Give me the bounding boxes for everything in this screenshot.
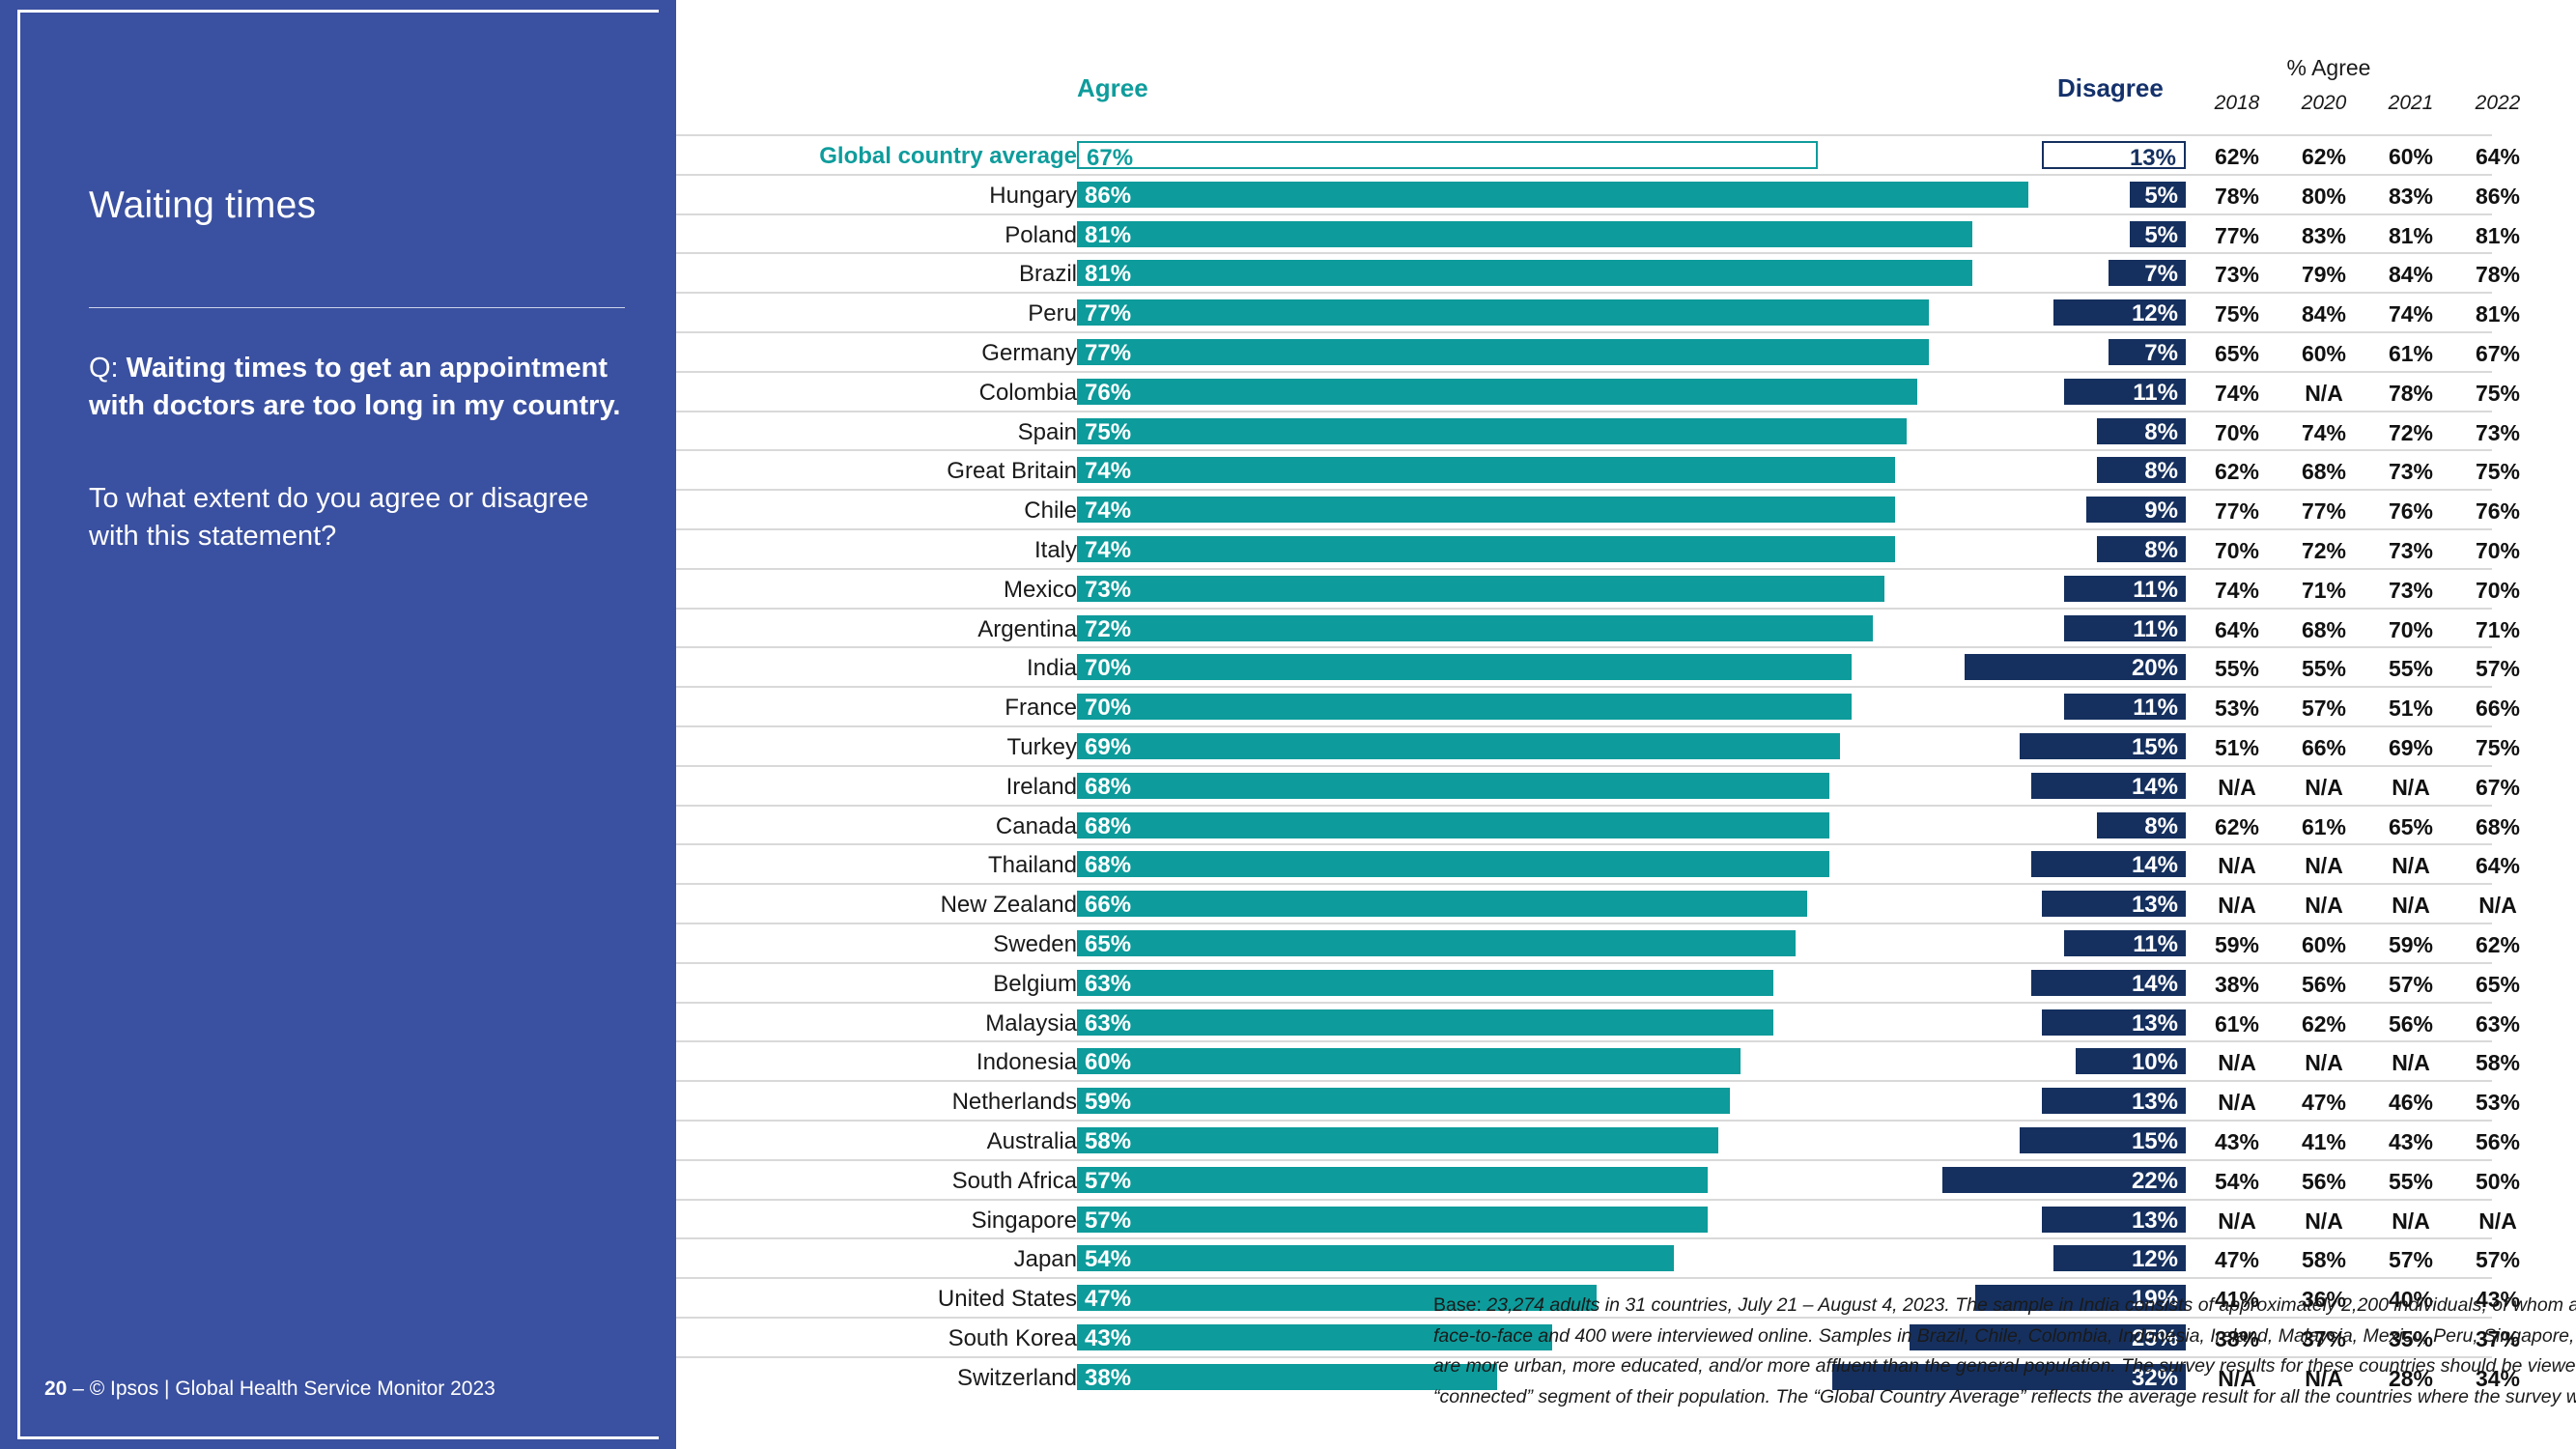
year-value-2021: 55% <box>2368 1169 2453 1195</box>
chart-row: Belgium63%14%38%56%57%65% <box>676 962 2576 1002</box>
disagree-bar: 11% <box>2064 694 2186 720</box>
agree-bar: 74% <box>1077 457 1895 483</box>
year-value-2020: 47% <box>2281 1090 2366 1116</box>
disagree-bar: 10% <box>2076 1048 2187 1074</box>
year-value-2020: N/A <box>2281 893 2366 919</box>
row-label-india: India <box>1027 655 1077 682</box>
disagree-bar: 11% <box>2064 615 2186 641</box>
row-label-south-africa: South Africa <box>952 1168 1077 1195</box>
agree-bar: 68% <box>1077 851 1829 877</box>
agree-value: 57% <box>1085 1170 1131 1193</box>
year-value-2022: 57% <box>2455 656 2540 682</box>
disagree-value: 11% <box>2133 382 2178 405</box>
row-label-italy: Italy <box>1034 537 1077 564</box>
row-label-chile: Chile <box>1024 497 1077 525</box>
agree-value: 72% <box>1085 618 1131 641</box>
disagree-bar: 7% <box>2109 260 2186 286</box>
disagree-value: 14% <box>2132 854 2178 877</box>
disagree-value: 5% <box>2144 224 2178 247</box>
row-divider <box>676 923 2492 924</box>
agree-bar: 66% <box>1077 891 1807 917</box>
question-prefix: Q: <box>89 353 127 384</box>
year-value-2021: 61% <box>2368 341 2453 367</box>
row-label-canada: Canada <box>996 813 1077 840</box>
year-value-2021: N/A <box>2368 1050 2453 1076</box>
row-label-belgium: Belgium <box>993 971 1077 998</box>
disagree-bar: 14% <box>2031 773 2186 799</box>
chart-row: Canada68%8%62%61%65%68% <box>676 805 2576 844</box>
year-value-2018: 38% <box>2194 972 2279 998</box>
row-label-japan: Japan <box>1014 1246 1077 1273</box>
year-value-2020: 61% <box>2281 814 2366 840</box>
row-divider <box>676 489 2492 491</box>
agree-bar: 81% <box>1077 221 1972 247</box>
agree-bar: 68% <box>1077 812 1829 838</box>
disagree-bar: 11% <box>2064 576 2186 602</box>
year-value-2021: 46% <box>2368 1090 2453 1116</box>
year-header-2021: 2021 <box>2368 92 2453 115</box>
disagree-value: 7% <box>2144 263 2178 286</box>
agree-value: 67% <box>1087 147 1133 170</box>
year-value-2018: 59% <box>2194 932 2279 958</box>
row-label-colombia: Colombia <box>979 380 1077 407</box>
agree-value: 81% <box>1085 263 1131 286</box>
agree-value: 81% <box>1085 224 1131 247</box>
disagree-bar: 13% <box>2042 141 2186 169</box>
chart-area: Agree Disagree % Agree 2018202020212022 … <box>676 0 2576 1449</box>
year-value-2021: 70% <box>2368 617 2453 643</box>
disagree-value: 15% <box>2132 736 2178 759</box>
row-label-south-korea: South Korea <box>948 1325 1077 1352</box>
chart-row: Italy74%8%70%72%73%70% <box>676 528 2576 568</box>
row-label-sweden: Sweden <box>993 931 1077 958</box>
year-value-2021: 56% <box>2368 1011 2453 1037</box>
agree-bar: 75% <box>1077 418 1907 444</box>
year-value-2018: 77% <box>2194 223 2279 249</box>
agree-bar: 86% <box>1077 182 2028 208</box>
year-value-2018: N/A <box>2194 853 2279 879</box>
year-value-2018: N/A <box>2194 1090 2279 1116</box>
year-value-2018: 78% <box>2194 184 2279 210</box>
row-label-ireland: Ireland <box>1006 774 1077 801</box>
row-label-brazil: Brazil <box>1019 261 1077 288</box>
chart-row: Colombia76%11%74%N/A78%75% <box>676 371 2576 411</box>
year-value-2021: 83% <box>2368 184 2453 210</box>
year-value-2021: 65% <box>2368 814 2453 840</box>
year-value-2020: 57% <box>2281 696 2366 722</box>
agree-bar: 68% <box>1077 773 1829 799</box>
year-value-2020: N/A <box>2281 381 2366 407</box>
year-value-2020: 72% <box>2281 538 2366 564</box>
disagree-value: 15% <box>2132 1130 2178 1153</box>
year-value-2021: 73% <box>2368 459 2453 485</box>
year-value-2022: 64% <box>2455 144 2540 170</box>
agree-column-header: Agree <box>1077 73 1148 103</box>
year-value-2022: 70% <box>2455 538 2540 564</box>
year-value-2021: 43% <box>2368 1129 2453 1155</box>
row-divider <box>676 1080 2492 1082</box>
agree-bar: 70% <box>1077 694 1852 720</box>
chart-row: Poland81%5%77%83%81%81% <box>676 213 2576 253</box>
chart-row: Ireland68%14%N/AN/AN/A67% <box>676 765 2576 805</box>
disagree-column-header: Disagree <box>2057 73 2164 103</box>
year-value-2018: 62% <box>2194 459 2279 485</box>
year-value-2020: 62% <box>2281 144 2366 170</box>
disagree-bar: 12% <box>2053 1245 2186 1271</box>
disagree-value: 22% <box>2132 1170 2178 1193</box>
year-value-2020: 60% <box>2281 341 2366 367</box>
agree-value: 73% <box>1085 579 1131 602</box>
year-value-2021: 78% <box>2368 381 2453 407</box>
row-label-thailand: Thailand <box>988 852 1077 879</box>
year-header-2018: 2018 <box>2194 92 2279 115</box>
row-divider <box>676 252 2492 254</box>
agree-bar: 77% <box>1077 299 1929 326</box>
chart-row: Singapore57%13%N/AN/AN/AN/A <box>676 1199 2576 1238</box>
row-divider <box>676 528 2492 530</box>
agree-value: 38% <box>1085 1367 1131 1390</box>
year-value-2018: 55% <box>2194 656 2279 682</box>
disagree-value: 13% <box>2132 894 2178 917</box>
disagree-value: 11% <box>2133 579 2178 602</box>
year-value-2022: 75% <box>2455 381 2540 407</box>
chart-row: Brazil81%7%73%79%84%78% <box>676 252 2576 292</box>
year-value-2021: 73% <box>2368 538 2453 564</box>
year-value-2022: 81% <box>2455 301 2540 327</box>
row-label-spain: Spain <box>1018 419 1077 446</box>
agree-bar: 59% <box>1077 1088 1730 1114</box>
disagree-value: 11% <box>2133 696 2178 720</box>
year-value-2018: 70% <box>2194 420 2279 446</box>
agree-value: 63% <box>1085 973 1131 996</box>
agree-value: 63% <box>1085 1012 1131 1036</box>
year-header-2020: 2020 <box>2281 92 2366 115</box>
disagree-bar: 11% <box>2064 379 2186 405</box>
row-divider <box>676 1040 2492 1042</box>
year-value-2020: 62% <box>2281 1011 2366 1037</box>
year-value-2020: 56% <box>2281 1169 2366 1195</box>
year-value-2022: 57% <box>2455 1247 2540 1273</box>
year-value-2018: 62% <box>2194 144 2279 170</box>
row-divider <box>676 765 2492 767</box>
year-value-2022: 65% <box>2455 972 2540 998</box>
row-label-poland: Poland <box>1005 222 1077 249</box>
year-value-2022: 70% <box>2455 578 2540 604</box>
year-value-2022: 75% <box>2455 735 2540 761</box>
agree-value: 65% <box>1085 933 1131 956</box>
year-value-2020: 74% <box>2281 420 2366 446</box>
disagree-bar: 15% <box>2020 1127 2186 1153</box>
year-value-2018: 75% <box>2194 301 2279 327</box>
year-value-2020: 77% <box>2281 498 2366 525</box>
year-value-2022: 62% <box>2455 932 2540 958</box>
chart-rows: Global country average67%13%62%62%60%64%… <box>676 134 2576 1396</box>
year-value-2018: 61% <box>2194 1011 2279 1037</box>
disagree-bar: 13% <box>2042 891 2186 917</box>
row-divider <box>676 725 2492 727</box>
year-value-2022: 63% <box>2455 1011 2540 1037</box>
chart-row: Indonesia60%10%N/AN/AN/A58% <box>676 1040 2576 1080</box>
year-value-2020: 66% <box>2281 735 2366 761</box>
year-value-2022: N/A <box>2455 893 2540 919</box>
disagree-value: 13% <box>2130 147 2176 170</box>
agree-value: 68% <box>1085 815 1131 838</box>
disagree-value: 13% <box>2132 1091 2178 1114</box>
year-value-2021: N/A <box>2368 893 2453 919</box>
row-divider <box>676 449 2492 451</box>
year-value-2020: N/A <box>2281 1050 2366 1076</box>
chart-row: South Africa57%22%54%56%55%50% <box>676 1159 2576 1199</box>
year-value-2022: 66% <box>2455 696 2540 722</box>
row-label-global-country-average: Global country average <box>819 143 1077 170</box>
agree-bar: 76% <box>1077 379 1917 405</box>
year-value-2021: 55% <box>2368 656 2453 682</box>
disagree-value: 8% <box>2144 421 2178 444</box>
disagree-value: 7% <box>2144 342 2178 365</box>
disagree-bar: 11% <box>2064 930 2186 956</box>
chart-row: France70%11%53%57%51%66% <box>676 686 2576 725</box>
year-value-2021: 74% <box>2368 301 2453 327</box>
agree-bar: 69% <box>1077 733 1840 759</box>
year-value-2022: 53% <box>2455 1090 2540 1116</box>
disagree-value: 8% <box>2144 539 2178 562</box>
chart-row: Thailand68%14%N/AN/AN/A64% <box>676 843 2576 883</box>
year-value-2022: 56% <box>2455 1129 2540 1155</box>
row-label-peru: Peru <box>1028 300 1077 327</box>
year-value-2021: 72% <box>2368 420 2453 446</box>
agree-bar: 58% <box>1077 1127 1718 1153</box>
pct-agree-header: % Agree <box>2194 55 2463 81</box>
agree-value: 54% <box>1085 1248 1131 1271</box>
year-value-2020: 68% <box>2281 617 2366 643</box>
year-value-2021: 76% <box>2368 498 2453 525</box>
year-value-2021: 69% <box>2368 735 2453 761</box>
disagree-bar: 8% <box>2097 536 2186 562</box>
row-label-great-britain: Great Britain <box>947 458 1077 485</box>
year-value-2018: 65% <box>2194 341 2279 367</box>
row-divider <box>676 962 2492 964</box>
disagree-bar: 13% <box>2042 1088 2186 1114</box>
agree-value: 74% <box>1085 460 1131 483</box>
row-label-united-states: United States <box>938 1286 1077 1313</box>
footer-copyright: – © Ipsos | Global Health Service Monito… <box>67 1378 495 1400</box>
row-divider <box>676 371 2492 373</box>
disagree-bar: 22% <box>1942 1167 2186 1193</box>
question-text: Waiting times to get an appointment with… <box>89 353 621 421</box>
year-value-2022: 86% <box>2455 184 2540 210</box>
disagree-value: 8% <box>2144 460 2178 483</box>
agree-value: 77% <box>1085 302 1131 326</box>
chart-row: Netherlands59%13%N/A47%46%53% <box>676 1080 2576 1120</box>
year-value-2018: N/A <box>2194 775 2279 801</box>
year-value-2022: 58% <box>2455 1050 2540 1076</box>
agree-value: 68% <box>1085 776 1131 799</box>
row-divider <box>676 883 2492 885</box>
year-value-2022: 76% <box>2455 498 2540 525</box>
agree-value: 74% <box>1085 499 1131 523</box>
row-divider <box>676 1002 2492 1004</box>
row-label-turkey: Turkey <box>1007 734 1077 761</box>
row-label-indonesia: Indonesia <box>977 1049 1077 1076</box>
base-note: Base: 23,274 adults in 31 countries, Jul… <box>1433 1291 2576 1412</box>
disagree-value: 5% <box>2144 185 2178 208</box>
row-divider <box>676 568 2492 570</box>
agree-bar: 77% <box>1077 339 1929 365</box>
agree-bar: 74% <box>1077 497 1895 523</box>
agree-bar: 67% <box>1077 141 1818 169</box>
year-value-2020: 41% <box>2281 1129 2366 1155</box>
year-value-2021: 84% <box>2368 262 2453 288</box>
row-label-germany: Germany <box>981 340 1077 367</box>
chart-row: Australia58%15%43%41%43%56% <box>676 1120 2576 1159</box>
base-note-lead: Base: <box>1433 1294 1486 1316</box>
agree-value: 74% <box>1085 539 1131 562</box>
disagree-value: 13% <box>2132 1209 2178 1233</box>
year-value-2018: 54% <box>2194 1169 2279 1195</box>
year-value-2020: 79% <box>2281 262 2366 288</box>
chart-row: Chile74%9%77%77%76%76% <box>676 489 2576 528</box>
year-value-2018: 47% <box>2194 1247 2279 1273</box>
chart-row: Peru77%12%75%84%74%81% <box>676 292 2576 331</box>
year-value-2021: 57% <box>2368 1247 2453 1273</box>
year-value-2020: 56% <box>2281 972 2366 998</box>
agree-value: 70% <box>1085 657 1131 680</box>
page-title: Waiting times <box>89 185 610 227</box>
agree-bar: 72% <box>1077 615 1873 641</box>
row-divider <box>676 174 2492 176</box>
chart-row: Turkey69%15%51%66%69%75% <box>676 725 2576 765</box>
row-divider <box>676 805 2492 807</box>
disagree-bar: 15% <box>2020 733 2186 759</box>
row-label-france: France <box>1005 695 1077 722</box>
agree-value: 60% <box>1085 1051 1131 1074</box>
year-value-2020: 83% <box>2281 223 2366 249</box>
agree-bar: 60% <box>1077 1048 1741 1074</box>
agree-value: 75% <box>1085 421 1131 444</box>
row-divider <box>676 1199 2492 1201</box>
row-divider <box>676 1159 2492 1161</box>
year-value-2018: N/A <box>2194 893 2279 919</box>
disagree-value: 20% <box>2132 657 2178 680</box>
chart-row: Hungary86%5%78%80%83%86% <box>676 174 2576 213</box>
disagree-bar: 9% <box>2086 497 2186 523</box>
chart-row: Japan54%12%47%58%57%57% <box>676 1237 2576 1277</box>
row-label-switzerland: Switzerland <box>957 1365 1077 1392</box>
agree-value: 66% <box>1085 894 1131 917</box>
row-divider <box>676 1237 2492 1239</box>
agree-value: 86% <box>1085 185 1131 208</box>
disagree-bar: 5% <box>2130 221 2186 247</box>
agree-value: 59% <box>1085 1091 1131 1114</box>
year-value-2021: N/A <box>2368 775 2453 801</box>
year-value-2022: 67% <box>2455 775 2540 801</box>
row-label-australia: Australia <box>987 1128 1077 1155</box>
slide-number: 20 <box>44 1378 67 1400</box>
year-value-2020: N/A <box>2281 775 2366 801</box>
row-label-mexico: Mexico <box>1004 577 1077 604</box>
year-value-2021: 51% <box>2368 696 2453 722</box>
agree-bar: 57% <box>1077 1207 1708 1233</box>
survey-subquestion: To what extent do you agree or disagree … <box>89 480 639 554</box>
row-divider <box>676 686 2492 688</box>
year-value-2020: 60% <box>2281 932 2366 958</box>
row-divider <box>676 213 2492 215</box>
year-value-2022: 73% <box>2455 420 2540 446</box>
year-value-2020: 80% <box>2281 184 2366 210</box>
base-note-text: 23,274 adults in 31 countries, July 21 –… <box>1433 1294 2576 1407</box>
disagree-value: 11% <box>2133 933 2178 956</box>
year-value-2022: 50% <box>2455 1169 2540 1195</box>
row-label-new-zealand: New Zealand <box>941 892 1077 919</box>
agree-value: 77% <box>1085 342 1131 365</box>
agree-bar: 63% <box>1077 1009 1773 1036</box>
year-value-2018: 43% <box>2194 1129 2279 1155</box>
agree-value: 70% <box>1085 696 1131 720</box>
year-value-2022: 81% <box>2455 223 2540 249</box>
disagree-bar: 20% <box>1965 654 2186 680</box>
chart-row: Global country average67%13%62%62%60%64% <box>676 134 2576 174</box>
year-value-2021: 73% <box>2368 578 2453 604</box>
disagree-value: 14% <box>2132 973 2178 996</box>
chart-row: India70%20%55%55%55%57% <box>676 646 2576 686</box>
year-value-2018: N/A <box>2194 1050 2279 1076</box>
left-title-panel: Waiting times Q: Waiting times to get an… <box>0 0 676 1449</box>
agree-value: 58% <box>1085 1130 1131 1153</box>
year-value-2018: 70% <box>2194 538 2279 564</box>
chart-row: Germany77%7%65%60%61%67% <box>676 331 2576 371</box>
year-value-2020: N/A <box>2281 1208 2366 1235</box>
survey-question: Q: Waiting times to get an appointment w… <box>89 350 630 424</box>
year-value-2018: 62% <box>2194 814 2279 840</box>
year-value-2022: 78% <box>2455 262 2540 288</box>
disagree-value: 12% <box>2132 302 2178 326</box>
disagree-bar: 8% <box>2097 457 2186 483</box>
year-value-2022: 67% <box>2455 341 2540 367</box>
agree-value: 47% <box>1085 1288 1131 1311</box>
disagree-bar: 13% <box>2042 1207 2186 1233</box>
disagree-bar: 7% <box>2109 339 2186 365</box>
row-divider <box>676 411 2492 412</box>
disagree-value: 9% <box>2144 499 2178 523</box>
disagree-bar: 5% <box>2130 182 2186 208</box>
year-value-2020: N/A <box>2281 853 2366 879</box>
disagree-bar: 12% <box>2053 299 2186 326</box>
agree-bar: 65% <box>1077 930 1796 956</box>
disagree-bar: 13% <box>2042 1009 2186 1036</box>
year-value-2018: 53% <box>2194 696 2279 722</box>
year-value-2021: 81% <box>2368 223 2453 249</box>
year-value-2020: 55% <box>2281 656 2366 682</box>
row-label-argentina: Argentina <box>977 616 1077 643</box>
row-label-malaysia: Malaysia <box>985 1010 1077 1037</box>
row-divider <box>676 292 2492 294</box>
row-divider <box>676 134 2492 136</box>
chart-row: Mexico73%11%74%71%73%70% <box>676 568 2576 608</box>
agree-bar: 54% <box>1077 1245 1674 1271</box>
year-value-2018: 74% <box>2194 381 2279 407</box>
disagree-bar: 8% <box>2097 812 2186 838</box>
year-value-2020: 58% <box>2281 1247 2366 1273</box>
agree-bar: 57% <box>1077 1167 1708 1193</box>
year-value-2018: 64% <box>2194 617 2279 643</box>
disagree-value: 11% <box>2133 618 2178 641</box>
row-divider <box>676 1277 2492 1279</box>
row-divider <box>676 843 2492 845</box>
agree-bar: 70% <box>1077 654 1852 680</box>
title-divider <box>89 307 625 308</box>
chart-row: New Zealand66%13%N/AN/AN/AN/A <box>676 883 2576 923</box>
year-value-2021: N/A <box>2368 853 2453 879</box>
